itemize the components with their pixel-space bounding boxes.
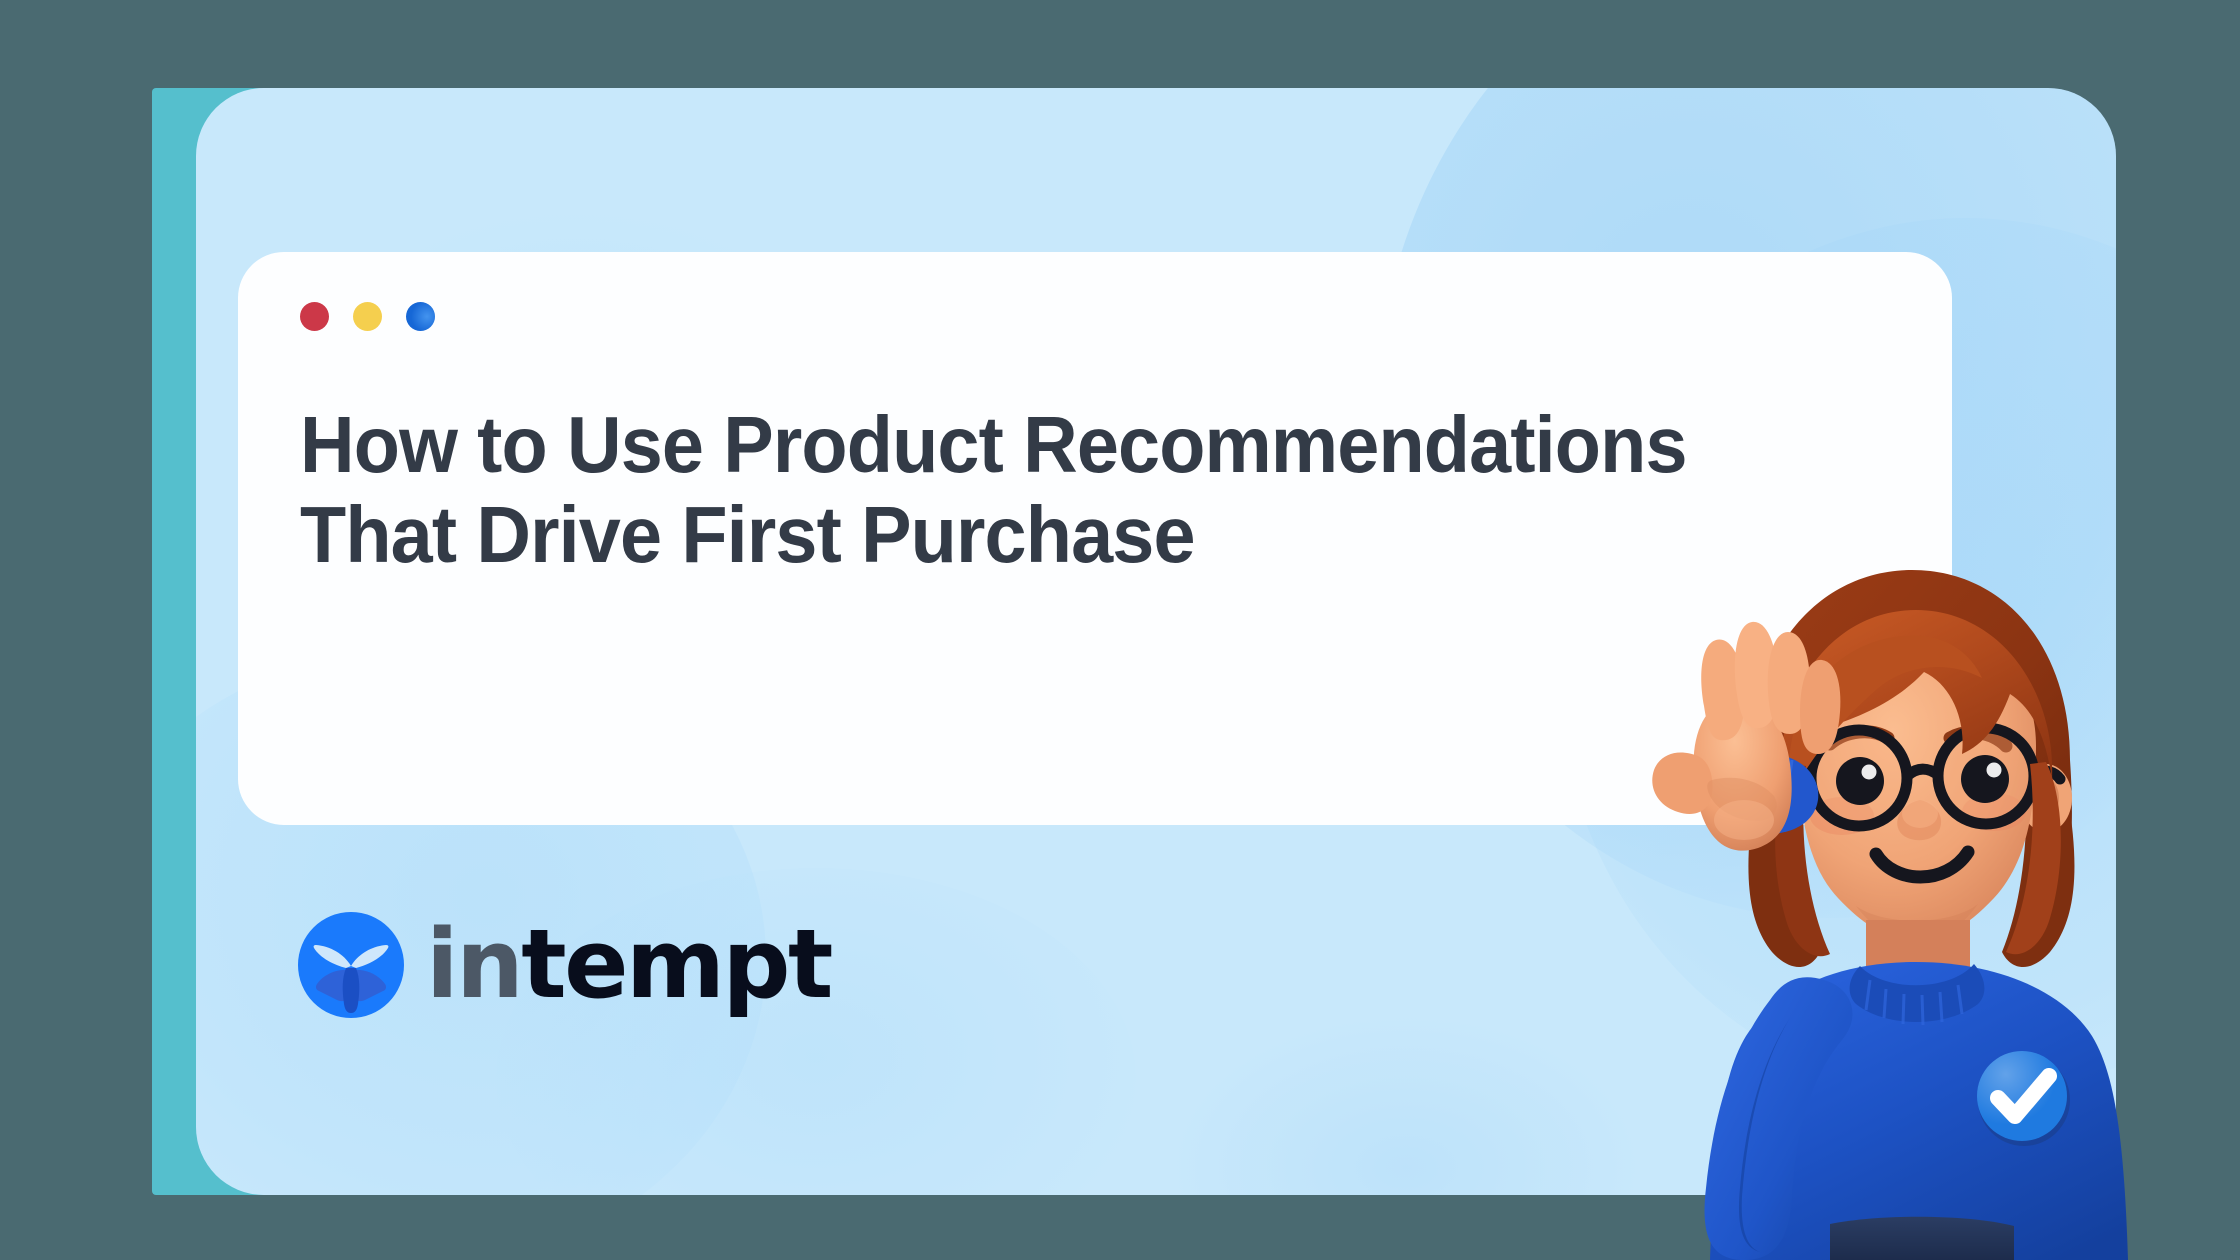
wordmark-in: in [426,910,521,1020]
intempt-logo[interactable]: intempt [298,912,831,1018]
wordmark-tempt: tempt [521,910,831,1020]
cover-graphic-canvas: How to Use Product Recommendations That … [0,0,2240,1260]
page-title-line-1: How to Use Product Recommendations [300,400,1831,490]
close-dot-icon[interactable] [300,302,329,331]
minimize-dot-icon[interactable] [353,302,382,331]
intempt-wordmark: intempt [426,918,831,1013]
window-traffic-lights [300,302,435,331]
waving-woman-avatar-illustration [1594,548,2134,1260]
maximize-dot-icon[interactable] [406,302,435,331]
intempt-whale-tail-icon [298,912,404,1018]
background-blob-decoration [1176,1018,1636,1195]
